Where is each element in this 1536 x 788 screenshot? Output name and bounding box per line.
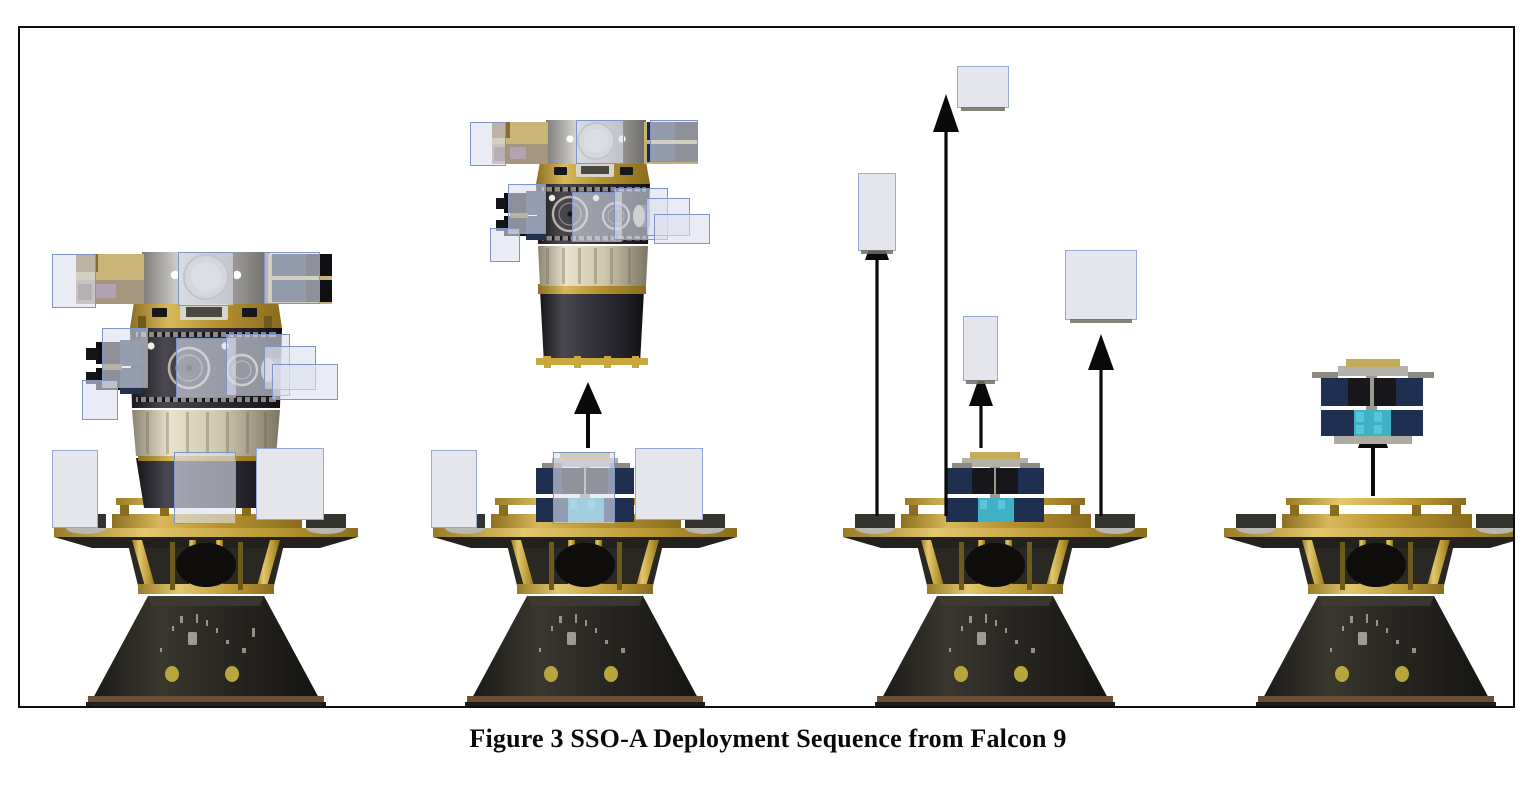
panel-satellite-deployment [766,28,1166,706]
deployed-satellite [1065,250,1137,320]
panel-lower-free-flyer-separation [1166,28,1513,706]
falcon9-payload-adapter [1256,596,1496,706]
satellite-overlay-box [102,328,148,388]
satellite-overlay-box [508,184,546,234]
falcon9-payload-adapter [875,596,1115,706]
satellite-overlay-box [82,380,118,420]
satellite-overlay-box [178,252,234,306]
falcon9-payload-adapter [86,596,326,706]
satellite-overlay-box [272,364,338,400]
satellite-overlay-box [470,122,506,166]
satellite-overlay-box [654,214,710,244]
satellite-overlay-box [174,452,236,524]
satellite-overlay-box [553,452,615,524]
falcon9-payload-adapter [465,596,705,706]
satellite-base-lip [966,380,995,384]
panel-full-stack-on-adapter [20,28,392,706]
deployment-arrow [865,226,889,516]
figure-page: Figure 3 SSO-A Deployment Sequence from … [0,0,1536,788]
deployment-arrow [1088,334,1114,516]
panel-upper-free-flyer-separation [392,28,766,706]
upper-free-flyer-gold-band [536,162,650,184]
figure-canvas [20,28,1513,706]
satellite-overlay-box [52,254,96,308]
satellite-overlay-box [490,228,520,262]
separation-arrow [574,382,602,448]
satellite-overlay-box [650,120,698,162]
satellite-base-lip [861,250,893,254]
panel-4-artwork [1166,28,1513,706]
satellite-base-lip [961,107,1005,111]
lower-free-flyer [1312,359,1434,444]
deployed-satellite [963,316,998,381]
figure-frame [18,26,1515,708]
satellite-overlay-box [52,450,98,528]
satellite-overlay-box [431,450,477,528]
satellite-overlay-box [264,252,320,304]
satellite-base-lip [1070,319,1132,323]
deployed-satellite [858,173,896,251]
satellite-overlay-box [635,448,703,520]
deployed-satellite [957,66,1009,108]
figure-caption: Figure 3 SSO-A Deployment Sequence from … [0,724,1536,754]
deployment-arrow [933,94,959,516]
satellite-overlay-box [576,120,624,164]
satellite-overlay-box [256,448,324,520]
lower-free-flyer [946,452,1044,522]
payload-adapter-truss [1224,498,1513,594]
